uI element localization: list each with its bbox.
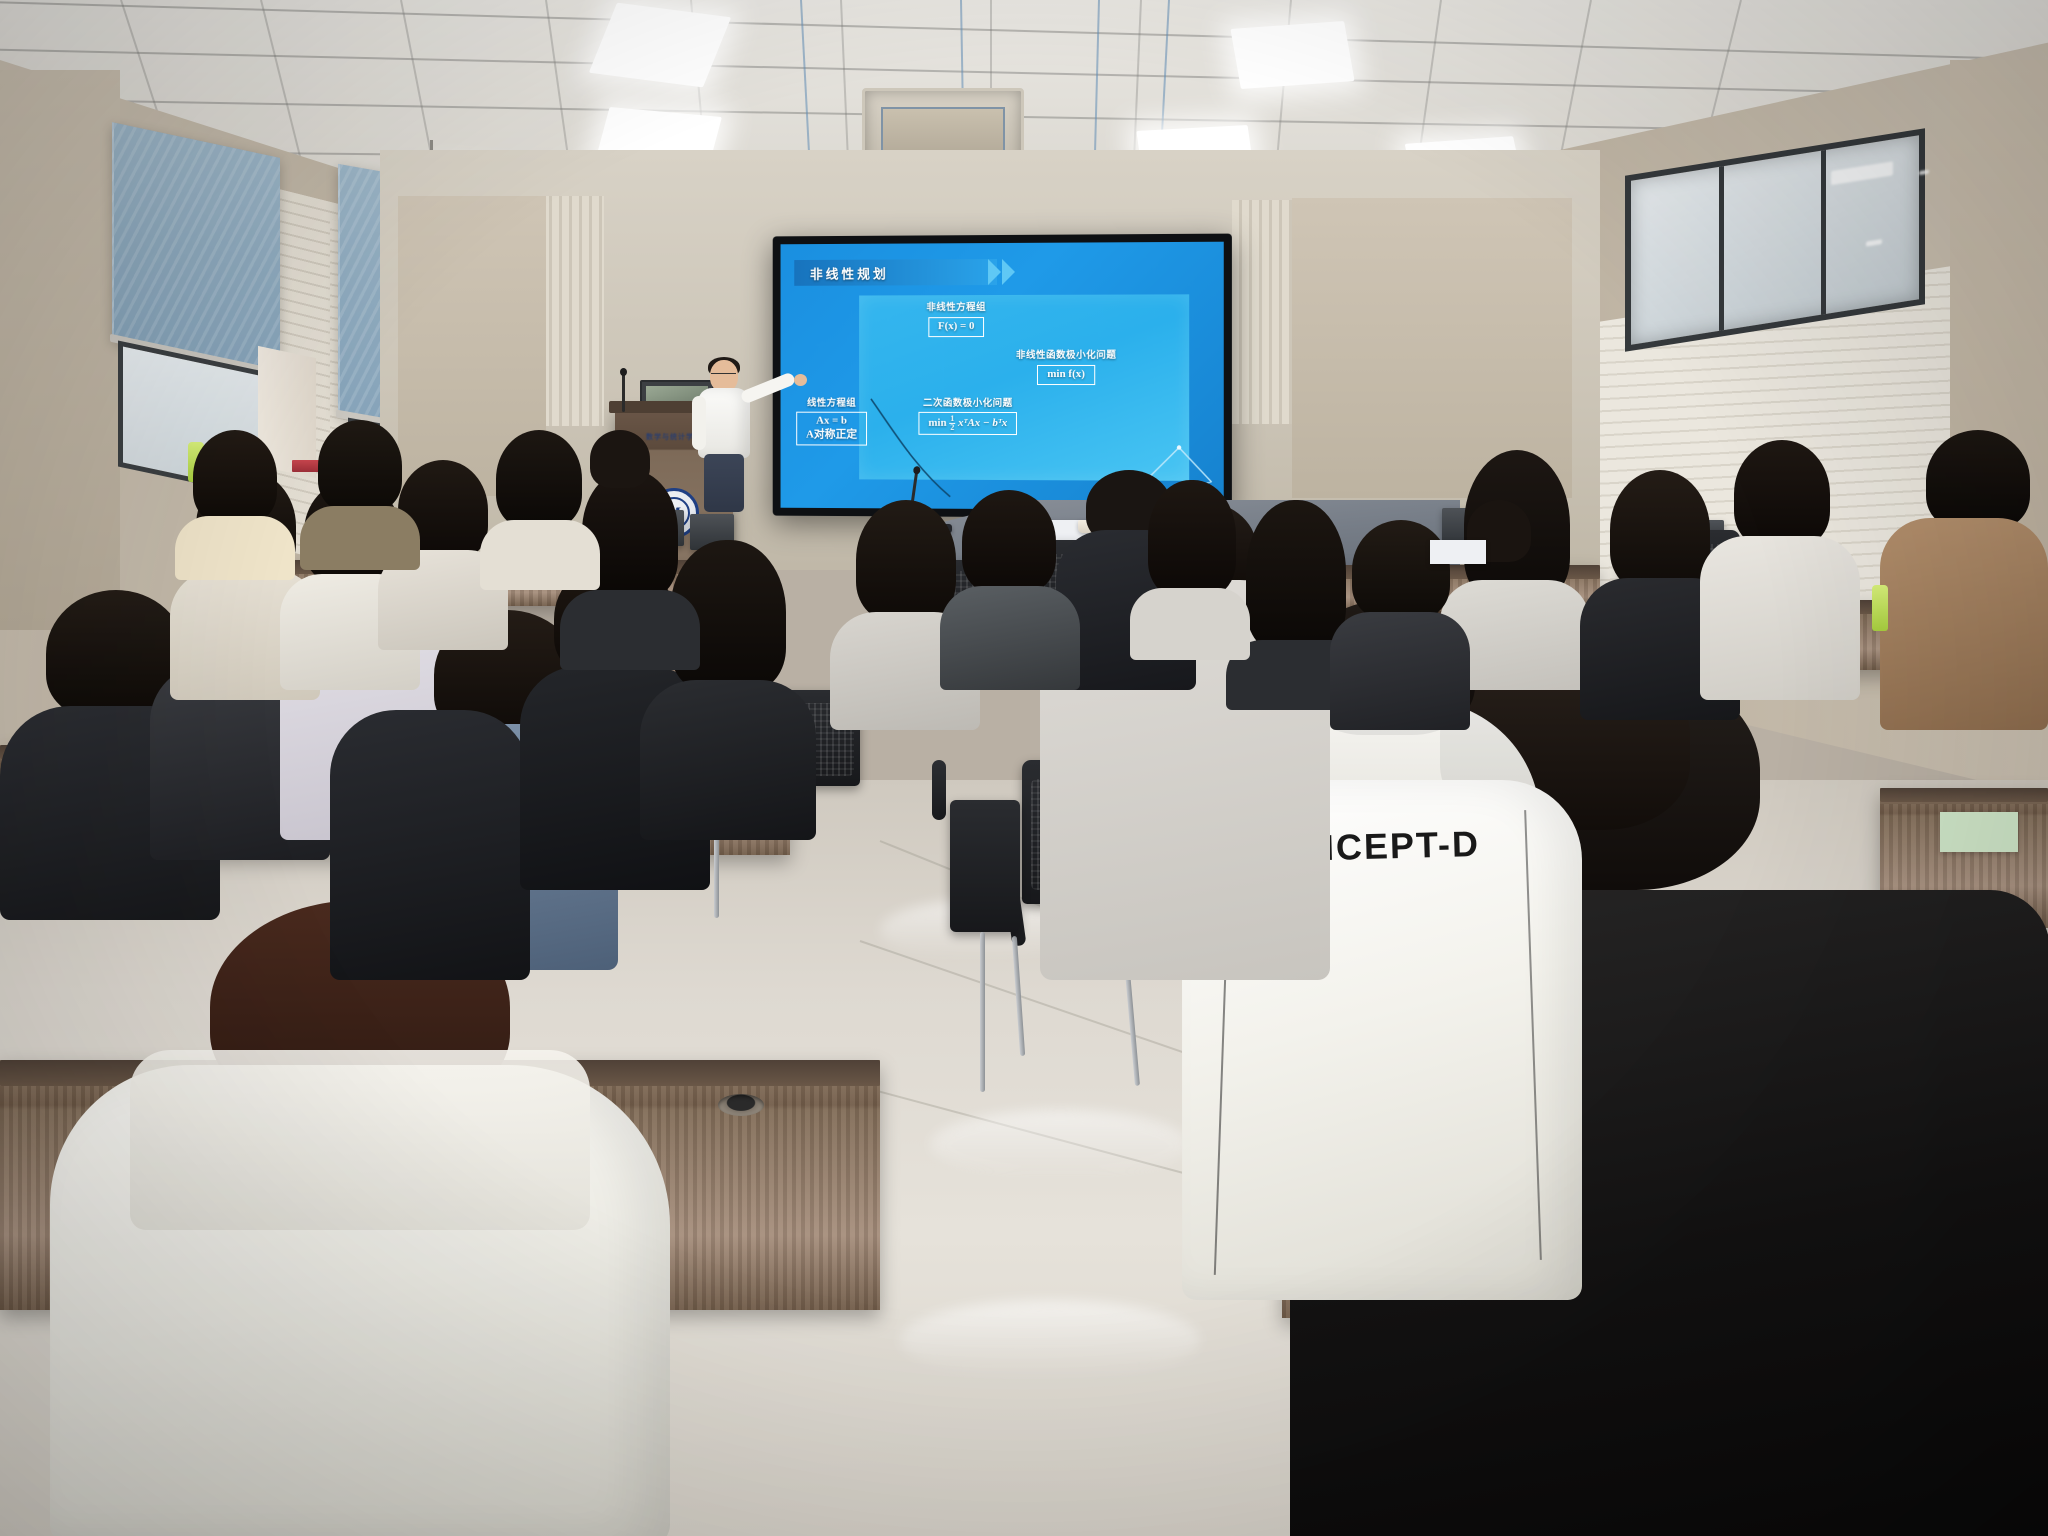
- student: [175, 430, 295, 580]
- chair-armrest: [932, 760, 946, 820]
- classroom-photo: 非线性规划 非线性方程组 F(x) = 0 非线性函数极小化问题 min f(x…: [0, 0, 2048, 1536]
- student: [940, 490, 1080, 690]
- left-wall-upper-panel: [0, 70, 120, 630]
- student: [300, 420, 420, 570]
- student: [1130, 480, 1250, 660]
- equation-line2: A对称正定: [806, 428, 857, 440]
- block-equation: min 1 2 xᵀAx − bᵀx: [918, 412, 1017, 435]
- student-top: [640, 680, 816, 840]
- presenter: [690, 360, 760, 510]
- slide-block-linear-system: 线性方程组 Ax = b A对称正定: [796, 395, 867, 445]
- presenter-left-arm: [692, 396, 706, 450]
- fraction: 1 2: [949, 415, 955, 432]
- student-top: [300, 506, 420, 570]
- student-hair: [962, 490, 1056, 594]
- equation-rest: xᵀAx − bᵀx: [958, 417, 1007, 429]
- front-wall-fluted-panel: [1232, 200, 1292, 424]
- student: [580, 430, 660, 520]
- double-chevron-right-icon: [1002, 259, 1015, 285]
- task-chair[interactable]: [950, 800, 1020, 1020]
- student: [330, 640, 530, 980]
- front-wall-fluted-panel: [542, 196, 604, 426]
- block-equation: min f(x): [1037, 365, 1095, 385]
- student-top: [1130, 588, 1250, 660]
- desk-cable-grommet[interactable]: [718, 1094, 764, 1116]
- slide-header-bar: 非线性规划: [794, 259, 997, 286]
- student: [10, 900, 670, 1536]
- desk-surface: [1880, 788, 2048, 802]
- slide-block-quadratic-minimization: 二次函数极小化问题 min 1 2 xᵀAx − bᵀx: [918, 395, 1017, 435]
- student-top: [330, 710, 530, 980]
- notebook: [1430, 540, 1486, 564]
- ceiling-light-panel: [1230, 21, 1354, 89]
- presenter-trousers: [704, 454, 744, 512]
- student-hair: [318, 420, 402, 512]
- student-hair: [1734, 440, 1830, 548]
- student-top: [1700, 536, 1860, 700]
- student: [1880, 430, 2048, 730]
- chair-back: [950, 800, 1020, 932]
- chair-post: [980, 932, 985, 1092]
- block-label: 非线性函数极小化问题: [1016, 347, 1116, 361]
- student-hair: [1610, 470, 1710, 590]
- student-top: [1330, 612, 1470, 730]
- block-equation: F(x) = 0: [928, 317, 985, 337]
- window-blind[interactable]: [112, 122, 280, 376]
- notebook: [1940, 812, 2018, 852]
- student-hair: [1352, 520, 1450, 620]
- student-top: [175, 516, 295, 580]
- block-label: 二次函数极小化问题: [918, 395, 1017, 409]
- lectern-microphone: [622, 372, 625, 412]
- student-top: [940, 586, 1080, 690]
- student-hair: [193, 430, 277, 524]
- student-hair: [590, 430, 650, 488]
- double-chevron-right-icon: [988, 259, 1001, 285]
- equation-prefix: min: [928, 417, 946, 429]
- slide-block-nonlinear-minimization: 非线性函数极小化问题 min f(x): [1016, 347, 1116, 385]
- presenter-right-hand: [794, 374, 807, 386]
- equation-line1: Ax = b: [816, 415, 847, 427]
- student-top: [1880, 518, 2048, 730]
- student-hair: [1926, 430, 2030, 530]
- water-bottle: [1872, 585, 1888, 631]
- block-equation: Ax = b A对称正定: [796, 412, 867, 445]
- student-hood: [130, 1050, 590, 1230]
- student-top: [480, 520, 600, 590]
- student-hair: [496, 430, 582, 528]
- ceiling-light-panel: [589, 3, 731, 88]
- block-label: 非线性方程组: [926, 299, 986, 313]
- slide-header-text: 非线性规划: [810, 263, 889, 282]
- glasses-icon: [711, 373, 736, 378]
- slide-block-nonlinear-system: 非线性方程组 F(x) = 0: [926, 299, 986, 337]
- student-top: [560, 590, 700, 670]
- student-hair: [1148, 480, 1236, 596]
- block-label: 线性方程组: [796, 395, 867, 409]
- student: [1700, 440, 1860, 700]
